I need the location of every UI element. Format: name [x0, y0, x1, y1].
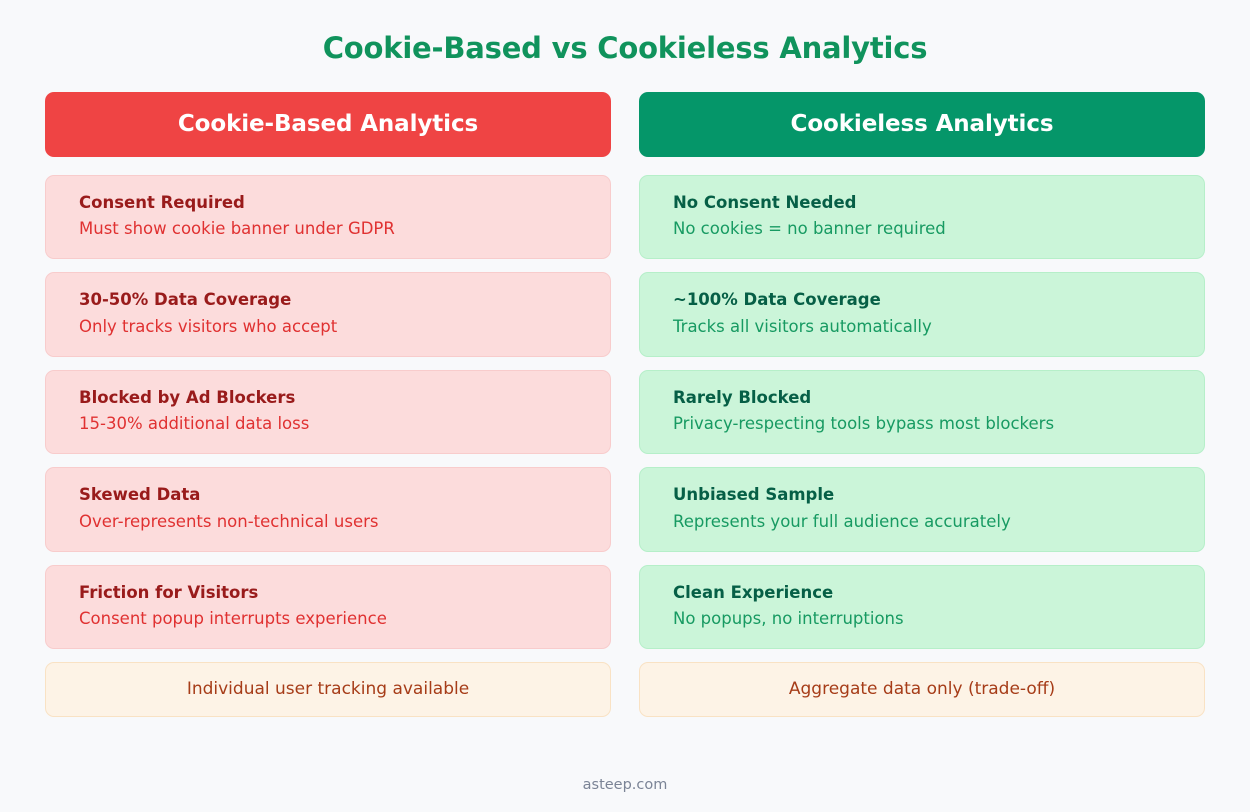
column-cookieless: Cookieless Analytics No Consent Needed N… — [639, 92, 1205, 718]
card-clean-experience: Clean Experience No popups, no interrupt… — [639, 565, 1205, 650]
card-title: Rarely Blocked — [673, 386, 1186, 411]
comparison-columns: Cookie-Based Analytics Consent Required … — [0, 68, 1250, 718]
page-title: Cookie-Based vs Cookieless Analytics — [0, 0, 1250, 68]
card-rarely-blocked: Rarely Blocked Privacy-respecting tools … — [639, 370, 1205, 455]
card-list-cookie-based: Consent Required Must show cookie banner… — [45, 175, 611, 650]
column-cookie-based: Cookie-Based Analytics Consent Required … — [45, 92, 611, 718]
card-list-cookieless: No Consent Needed No cookies = no banner… — [639, 175, 1205, 650]
card-description: Tracks all visitors automatically — [673, 315, 1186, 340]
card-title: Friction for Visitors — [79, 581, 592, 606]
card-description: 15-30% additional data loss — [79, 412, 592, 437]
card-description: Must show cookie banner under GDPR — [79, 217, 592, 242]
column-header-cookie-based: Cookie-Based Analytics — [45, 92, 611, 157]
card-no-consent-needed: No Consent Needed No cookies = no banner… — [639, 175, 1205, 260]
card-friction-visitors: Friction for Visitors Consent popup inte… — [45, 565, 611, 650]
card-description: Privacy-respecting tools bypass most blo… — [673, 412, 1186, 437]
infographic-page: Cookie-Based vs Cookieless Analytics Coo… — [0, 0, 1250, 812]
card-title: Unbiased Sample — [673, 483, 1186, 508]
note-cookie-based: Individual user tracking available — [45, 662, 611, 717]
card-ad-blockers: Blocked by Ad Blockers 15-30% additional… — [45, 370, 611, 455]
card-data-coverage: 30-50% Data Coverage Only tracks visitor… — [45, 272, 611, 357]
footer-attribution: asteep.com — [0, 777, 1250, 812]
card-title: No Consent Needed — [673, 191, 1186, 216]
card-title: 30-50% Data Coverage — [79, 288, 592, 313]
card-unbiased-sample: Unbiased Sample Represents your full aud… — [639, 467, 1205, 552]
card-title: Skewed Data — [79, 483, 592, 508]
card-title: Blocked by Ad Blockers — [79, 386, 592, 411]
card-title: ~100% Data Coverage — [673, 288, 1186, 313]
card-description: Consent popup interrupts experience — [79, 607, 592, 632]
column-header-cookieless: Cookieless Analytics — [639, 92, 1205, 157]
card-title: Clean Experience — [673, 581, 1186, 606]
card-skewed-data: Skewed Data Over-represents non-technica… — [45, 467, 611, 552]
card-consent-required: Consent Required Must show cookie banner… — [45, 175, 611, 260]
card-description: Only tracks visitors who accept — [79, 315, 592, 340]
card-description: Represents your full audience accurately — [673, 510, 1186, 535]
card-description: Over-represents non-technical users — [79, 510, 592, 535]
note-cookieless: Aggregate data only (trade-off) — [639, 662, 1205, 717]
card-description: No popups, no interruptions — [673, 607, 1186, 632]
card-full-data-coverage: ~100% Data Coverage Tracks all visitors … — [639, 272, 1205, 357]
card-title: Consent Required — [79, 191, 592, 216]
card-description: No cookies = no banner required — [673, 217, 1186, 242]
